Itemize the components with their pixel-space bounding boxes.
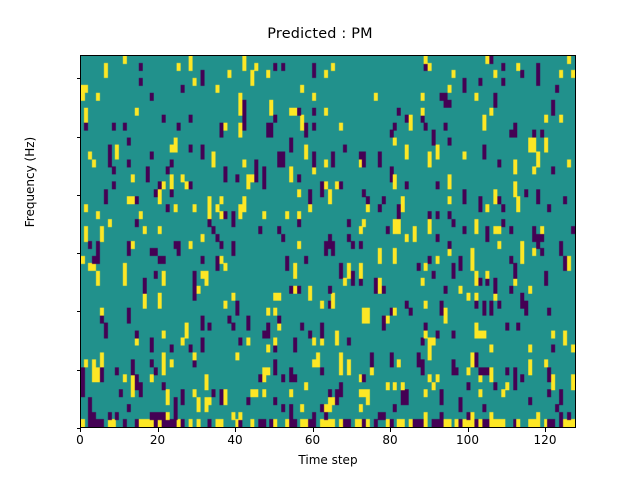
heatmap-plot-area bbox=[80, 55, 576, 428]
page-title: Predicted : PM bbox=[0, 26, 640, 42]
heatmap-image bbox=[81, 56, 575, 427]
x-tick-label: 20 bbox=[150, 433, 165, 447]
x-tick-mark bbox=[468, 428, 469, 432]
x-tick-mark bbox=[390, 428, 391, 432]
y-tick-mark bbox=[77, 78, 81, 79]
x-tick-mark bbox=[158, 428, 159, 432]
x-tick-label: 40 bbox=[227, 433, 242, 447]
x-tick-label: 120 bbox=[534, 433, 557, 447]
y-axis-label: Frequency (Hz) bbox=[23, 82, 37, 282]
y-tick-mark bbox=[77, 195, 81, 196]
x-tick-label: 0 bbox=[76, 433, 84, 447]
x-tick-mark bbox=[80, 428, 81, 432]
x-axis-label: Time step bbox=[80, 453, 576, 467]
y-tick-mark bbox=[77, 137, 81, 138]
x-tick-mark bbox=[545, 428, 546, 432]
figure-canvas: Predicted : PM 020406080100120 020000400… bbox=[0, 0, 640, 480]
y-tick-mark bbox=[77, 370, 81, 371]
y-tick-mark bbox=[77, 428, 81, 429]
y-tick-mark bbox=[77, 311, 81, 312]
y-tick-mark bbox=[77, 253, 81, 254]
x-tick-mark bbox=[235, 428, 236, 432]
x-tick-mark bbox=[313, 428, 314, 432]
x-tick-label: 100 bbox=[456, 433, 479, 447]
x-tick-label: 60 bbox=[305, 433, 320, 447]
x-tick-label: 80 bbox=[382, 433, 397, 447]
